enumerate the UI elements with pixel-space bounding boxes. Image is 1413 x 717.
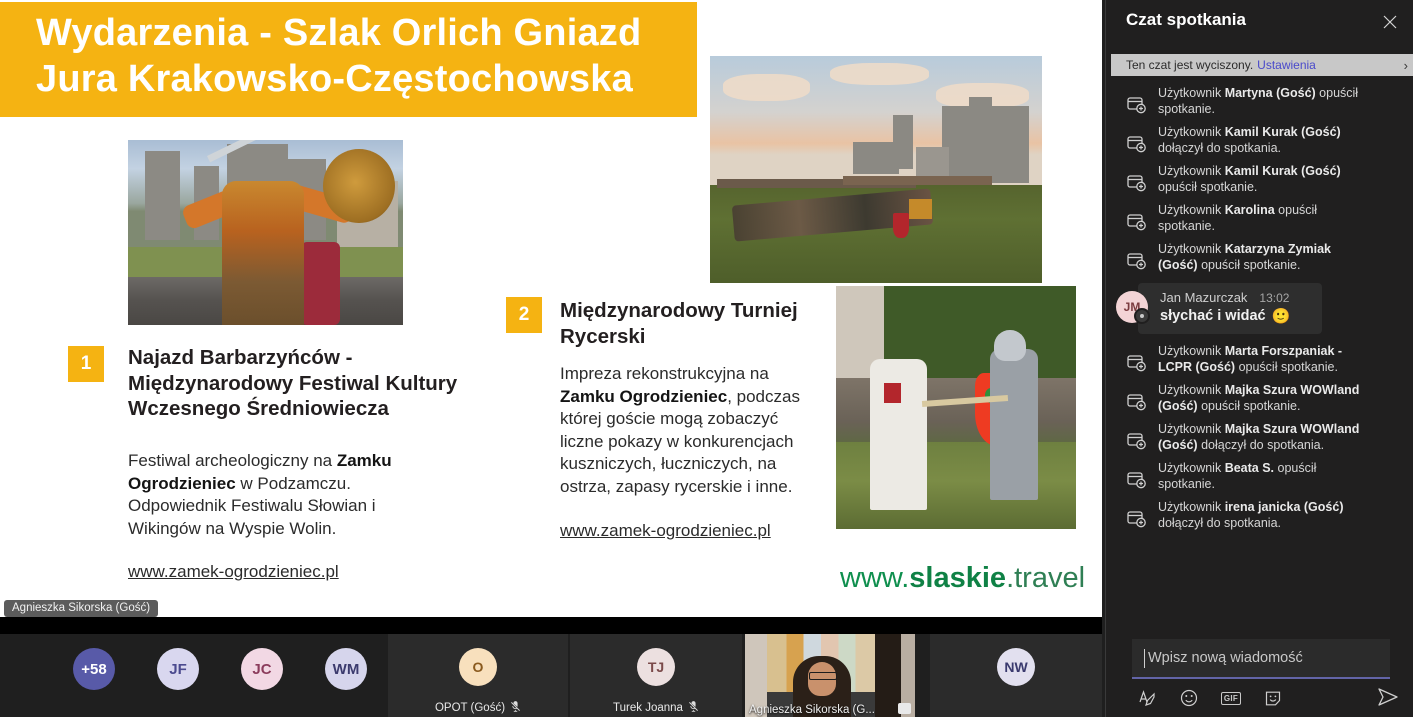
system-message-text: Użytkownik Marta Forszpaniak - LCPR (Goś… bbox=[1158, 344, 1366, 375]
slide-block-2-body: Impreza rekonstrukcyjna na Zamku Ogrodzi… bbox=[560, 363, 810, 498]
avatar: TJ bbox=[637, 648, 675, 686]
system-message: Użytkownik Kamil Kurak (Gość) opuścił sp… bbox=[1106, 160, 1413, 199]
mic-muted-icon bbox=[688, 701, 699, 715]
slaskie-travel-logo: www.slaskie.travel bbox=[840, 562, 1085, 595]
participant-overflow-badge[interactable]: +58 bbox=[58, 634, 130, 717]
system-message: Użytkownik Katarzyna Zymiak (Gość) opuśc… bbox=[1106, 238, 1413, 277]
slide-title-band: Wydarzenia - Szlak Orlich Gniazd Jura Kr… bbox=[0, 2, 697, 117]
participant-filmstrip: +58 JF JC WM O OPOT (Gość) TJ Turek Joan… bbox=[0, 617, 1102, 717]
slide-block-2-number: 2 bbox=[506, 297, 542, 333]
add-participant-icon bbox=[1124, 209, 1148, 233]
chevron-right-icon: › bbox=[1404, 58, 1408, 73]
send-icon[interactable] bbox=[1376, 685, 1400, 709]
add-participant-icon bbox=[1124, 248, 1148, 272]
add-participant-icon bbox=[1124, 506, 1148, 530]
system-message-text: Użytkownik Katarzyna Zymiak (Gość) opuśc… bbox=[1158, 242, 1366, 273]
add-participant-icon bbox=[1124, 389, 1148, 413]
shared-content-stage: Wydarzenia - Szlak Orlich Gniazd Jura Kr… bbox=[0, 0, 1102, 617]
muted-notice-settings-link[interactable]: Ustawienia bbox=[1257, 58, 1316, 72]
participant-avatar-jc[interactable]: JC bbox=[226, 634, 298, 717]
slide-block-2-heading: Międzynarodowy Turniej Rycerski bbox=[560, 298, 815, 349]
system-message-text: Użytkownik Majka Szura WOWland (Gość) do… bbox=[1158, 422, 1366, 453]
chat-muted-notice[interactable]: Ten czat jest wyciszony. Ustawienia › bbox=[1111, 54, 1413, 76]
add-participant-icon bbox=[1124, 92, 1148, 116]
photo-barbarian-festival bbox=[128, 140, 403, 325]
system-message: Użytkownik Beata S. opuścił spotkanie. bbox=[1106, 457, 1413, 496]
system-message: Użytkownik Majka Szura WOWland (Gość) do… bbox=[1106, 418, 1413, 457]
system-message: Użytkownik Kamil Kurak (Gość) dołączył d… bbox=[1106, 121, 1413, 160]
slide-block-1-body: Festiwal archeologiczny na Zamku Ogrodzi… bbox=[128, 450, 418, 540]
avatar: +58 bbox=[73, 648, 115, 690]
logo-tld: .travel bbox=[1006, 562, 1085, 594]
photo-castle-procession bbox=[710, 56, 1042, 283]
chat-title: Czat spotkania bbox=[1126, 10, 1246, 30]
filmstrip-inner: +58 JF JC WM O OPOT (Gość) TJ Turek Joan… bbox=[0, 634, 1102, 717]
message-author: Jan Mazurczak bbox=[1160, 290, 1247, 305]
presenter-nametag: Agnieszka Sikorska (Gość) bbox=[4, 600, 158, 617]
participant-tile-label: Agnieszka Sikorska (G... bbox=[749, 704, 875, 716]
system-message-text: Użytkownik Majka Szura WOWland (Gość) op… bbox=[1158, 383, 1366, 414]
teams-meeting-window: Wydarzenia - Szlak Orlich Gniazd Jura Kr… bbox=[0, 0, 1413, 717]
system-message-text: Użytkownik irena janicka (Gość) dołączył… bbox=[1158, 500, 1366, 531]
chat-composer: Wpisz nową wiadomość GIF bbox=[1106, 629, 1413, 717]
message-timestamp: 13:02 bbox=[1259, 291, 1289, 305]
message-bubble: Jan Mazurczak 13:02 słychać i widać🙂 bbox=[1138, 283, 1322, 334]
slide-title-line2: Jura Krakowsko-Częstochowska bbox=[36, 56, 676, 102]
participant-tile-agnieszka-video[interactable]: Agnieszka Sikorska (G... bbox=[745, 634, 915, 717]
smiley-emoji-icon: 🙂 bbox=[1272, 307, 1291, 325]
slide-title-line1: Wydarzenia - Szlak Orlich Gniazd bbox=[36, 10, 676, 56]
avatar: JC bbox=[241, 648, 283, 690]
system-message-text: Użytkownik Karolina opuścił spotkanie. bbox=[1158, 203, 1366, 234]
logo-www: www. bbox=[840, 562, 909, 594]
participant-tile-turek[interactable]: TJ Turek Joanna bbox=[570, 634, 742, 717]
logo-brand: slaskie bbox=[909, 562, 1006, 594]
add-participant-icon bbox=[1124, 131, 1148, 155]
participant-avatar-wm[interactable]: WM bbox=[310, 634, 382, 717]
pin-icon bbox=[898, 703, 911, 714]
status-offline-icon bbox=[1134, 308, 1150, 324]
chat-message-user[interactable]: JM Jan Mazurczak 13:02 słychać i widać🙂 bbox=[1106, 277, 1413, 340]
avatar: O bbox=[459, 648, 497, 686]
system-message: Użytkownik Marta Forszpaniak - LCPR (Goś… bbox=[1106, 340, 1413, 379]
meeting-chat-panel: Czat spotkania Ten czat jest wyciszony. … bbox=[1105, 0, 1413, 717]
system-message: Użytkownik Majka Szura WOWland (Gość) op… bbox=[1106, 379, 1413, 418]
new-message-input[interactable]: Wpisz nową wiadomość bbox=[1132, 639, 1390, 679]
emoji-icon[interactable] bbox=[1178, 687, 1200, 709]
avatar: WM bbox=[325, 648, 367, 690]
avatar: JM bbox=[1116, 291, 1148, 323]
participant-tile-label: Turek Joanna bbox=[570, 701, 742, 715]
system-message-text: Użytkownik Martyna (Gość) opuścił spotka… bbox=[1158, 86, 1366, 117]
new-message-placeholder: Wpisz nową wiadomość bbox=[1148, 650, 1303, 666]
add-participant-icon bbox=[1124, 170, 1148, 194]
add-participant-icon bbox=[1124, 350, 1148, 374]
participant-tile-label: OPOT (Gość) bbox=[388, 701, 568, 715]
text-caret bbox=[1144, 649, 1145, 668]
slide-block-1-link[interactable]: www.zamek-ogrodzieniec.pl bbox=[128, 562, 339, 582]
photo-knight-tournament bbox=[836, 286, 1076, 529]
system-message-text: Użytkownik Beata S. opuścił spotkanie. bbox=[1158, 461, 1366, 492]
slide-block-2-link[interactable]: www.zamek-ogrodzieniec.pl bbox=[560, 521, 771, 541]
chat-header: Czat spotkania bbox=[1106, 0, 1413, 46]
add-participant-icon bbox=[1124, 428, 1148, 452]
slide-title: Wydarzenia - Szlak Orlich Gniazd Jura Kr… bbox=[36, 10, 676, 102]
muted-notice-text: Ten czat jest wyciszony. bbox=[1126, 58, 1253, 72]
system-message-text: Użytkownik Kamil Kurak (Gość) opuścił sp… bbox=[1158, 164, 1366, 195]
mic-muted-icon bbox=[510, 701, 521, 715]
slide-block-1-number: 1 bbox=[68, 346, 104, 382]
participant-tile-opot[interactable]: O OPOT (Gość) bbox=[388, 634, 568, 717]
composer-toolbar: GIF bbox=[1136, 687, 1284, 709]
format-icon[interactable] bbox=[1136, 687, 1158, 709]
avatar: NW bbox=[997, 648, 1035, 686]
system-message: Użytkownik Martyna (Gość) opuścił spotka… bbox=[1106, 82, 1413, 121]
participant-tile-nw[interactable]: NW bbox=[930, 634, 1102, 717]
message-body: słychać i widać🙂 bbox=[1160, 307, 1310, 325]
system-message: Użytkownik Karolina opuścił spotkanie. bbox=[1106, 199, 1413, 238]
avatar: JF bbox=[157, 648, 199, 690]
gif-icon[interactable]: GIF bbox=[1220, 687, 1242, 709]
system-message-text: Użytkownik Kamil Kurak (Gość) dołączył d… bbox=[1158, 125, 1366, 156]
participant-avatar-jf[interactable]: JF bbox=[142, 634, 214, 717]
chat-message-list[interactable]: Użytkownik Martyna (Gość) opuścił spotka… bbox=[1106, 82, 1413, 627]
sticker-icon[interactable] bbox=[1262, 687, 1284, 709]
system-message: Użytkownik irena janicka (Gość) dołączył… bbox=[1106, 496, 1413, 535]
add-participant-icon bbox=[1124, 467, 1148, 491]
slide-block-1-heading: Najazd Barbarzyńców - Międzynarodowy Fes… bbox=[128, 345, 458, 422]
close-icon[interactable] bbox=[1376, 8, 1404, 36]
